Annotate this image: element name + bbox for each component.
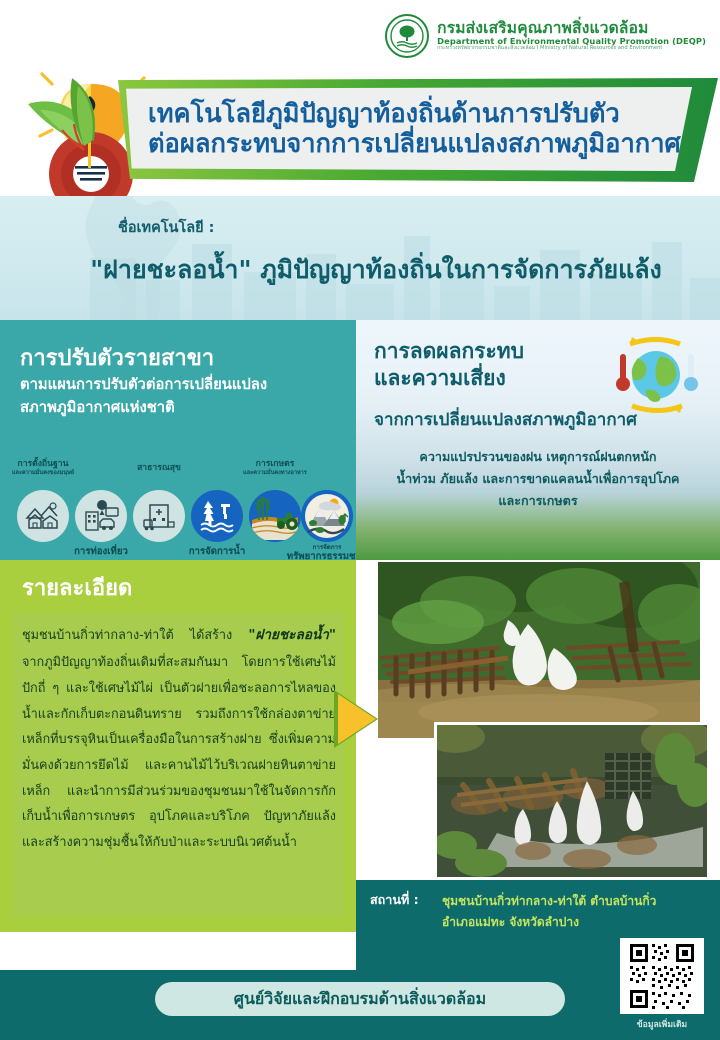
mitigation-panel: การลดผลกระทบ และความเสี่ยง จากการเปลี่ยน… <box>356 320 720 560</box>
globe-thermometer-icon <box>608 334 704 418</box>
mitigation-body-line3: และการเกษตร <box>368 490 708 512</box>
qr-code-icon <box>620 938 704 1014</box>
public-health-hospital-icon <box>133 490 185 542</box>
details-text-highlight: "ฝายชะลอน้ำ" <box>248 627 336 643</box>
technology-label: ชื่อเทคโนโลยี : <box>118 216 214 239</box>
thermometer-hot <box>616 354 630 391</box>
details-body-text: ชุมชนบ้านกิ่วท่ากลาง-ท่าใต้ ได้สร้าง "ฝา… <box>22 622 336 855</box>
adaptation-subheading-line1: ตามแผนการปรับตัวต่อการเปลี่ยนแปลง <box>20 374 340 397</box>
sector-label-public-health: สาธารณสุข <box>106 464 212 474</box>
research-center-name: ศูนย์วิจัยและฝึกอบรมด้านสิ่งแวดล้อม <box>234 987 486 1012</box>
mitigation-body: ความแปรปรวนของฝน เหตุการณ์ฝนตกหนัก น้ำท่… <box>368 446 708 512</box>
water-management-tap-icon <box>191 490 243 542</box>
sector-label-tourism: การท่องเที่ยว <box>46 546 156 558</box>
mitigation-heading-line1: การลดผลกระทบ <box>374 338 524 365</box>
technology-name-band: ชื่อเทคโนโลยี : "ฝายชะลอน้ำ" ภูมิปัญญาท้… <box>0 196 720 320</box>
mitigation-heading-line2: และความเสี่ยง <box>374 365 524 392</box>
location-line2: อำเภอแม่ทะ จังหวัดลำปาง <box>442 913 692 932</box>
poster-title-line2: ต่อผลกระทบจากการเปลี่ยนแปลงสภาพภูมิอากาศ <box>148 129 692 159</box>
adaptation-subheading-line2: สภาพภูมิอากาศแห่งชาติ <box>20 397 340 420</box>
sector-item-tourism[interactable]: การท่องเที่ยว <box>72 490 130 542</box>
tourism-city-icon <box>75 490 127 542</box>
title-ribbon: เทคโนโลยีภูมิปัญญาท้องถิ่นด้านการปรับตัว… <box>118 78 718 182</box>
qr-block[interactable]: ข้อมูลเพิ่มเติม <box>620 938 704 1034</box>
research-center-pill[interactable]: ศูนย์วิจัยและฝึกอบรมด้านสิ่งแวดล้อม <box>155 982 565 1016</box>
sector-label-agriculture: การเกษตร และความมั่นคงทางอาหาร <box>222 460 328 477</box>
location-label: สถานที่ : <box>370 890 419 910</box>
footer-band: ศูนย์วิจัยและฝึกอบรมด้านสิ่งแวดล้อม <box>0 970 720 1040</box>
sector-item-agriculture[interactable]: การเกษตร และความมั่นคงทางอาหาร <box>246 490 304 542</box>
sector-item-public-health[interactable]: สาธารณสุข <box>130 490 188 542</box>
details-text-part1: ชุมชนบ้านกิ่วท่ากลาง-ท่าใต้ ได้สร้าง <box>22 627 248 642</box>
qr-caption: ข้อมูลเพิ่มเติม <box>620 1017 704 1031</box>
sector-label-settlement: การตั้งถิ่นฐาน และความมั่นคงของมนุษย์ <box>0 460 96 477</box>
agriculture-tractor-icon <box>249 490 301 542</box>
sector-item-settlement[interactable]: การตั้งถิ่นฐาน และความมั่นคงของมนุษย์ <box>14 490 72 542</box>
ribbon-inner-panel: เทคโนโลยีภูมิปัญญาท้องถิ่นด้านการปรับตัว… <box>126 87 692 171</box>
poster-title-line1: เทคโนโลยีภูมิปัญญาท้องถิ่นด้านการปรับตัว <box>148 99 692 129</box>
org-ministry-line: กระทรวงทรัพยากรธรรมชาติและสิ่งแวดล้อม I … <box>437 46 706 52</box>
sector-item-natural-resources[interactable]: การจัดการ ทรัพยากรธรรมชาติ <box>298 490 356 542</box>
thermometer-cold <box>684 354 698 391</box>
sector-label-water-management: การจัดการน้ำ <box>162 546 272 558</box>
natural-resources-mountain-icon <box>301 490 353 542</box>
deqp-logo: กรมส่งเสริมคุณภาพสิ่งแวดล้อม Department … <box>385 14 706 58</box>
tree-in-circle-icon <box>385 14 429 58</box>
sector-item-water-management[interactable]: การจัดการน้ำ <box>188 490 246 542</box>
header-band: กรมส่งเสริมคุณภาพสิ่งแวดล้อม Department … <box>0 0 720 196</box>
adaptation-panel: การปรับตัวรายสาขา ตามแผนการปรับตัวต่อการ… <box>0 320 356 560</box>
details-text-part2: จากภูมิปัญญาท้องถิ่นเดิมที่สะสมกันมา โดย… <box>22 654 336 849</box>
check-dam-cascade-photo <box>434 722 710 880</box>
details-heading: รายละเอียด <box>22 570 132 605</box>
technology-name: "ฝายชะลอน้ำ" ภูมิปัญญาท้องถิ่นในการจัดกา… <box>76 250 676 290</box>
mitigation-body-line1: ความแปรปรวนของฝน เหตุการณ์ฝนตกหนัก <box>368 446 708 468</box>
mitigation-body-line2: น้ำท่วม ภัยแล้ง และการขาดแคลนน้ำเพื่อการ… <box>368 468 708 490</box>
settlement-houses-icon <box>17 490 69 542</box>
right-arrow-icon <box>330 686 382 752</box>
check-dam-wooden-weir-photo <box>378 562 700 738</box>
adaptation-heading: การปรับตัวรายสาขา <box>20 340 214 375</box>
org-name-thai: กรมส่งเสริมคุณภาพสิ่งแวดล้อม <box>437 20 706 37</box>
sector-icon-row: การตั้งถิ่นฐาน และความมั่นคงของมนุษย์ <box>6 460 354 556</box>
mitigation-heading: การลดผลกระทบ และความเสี่ยง <box>374 338 524 392</box>
location-line1: ชุมชนบ้านกิ่วท่ากลาง-ท่าใต้ ตำบลบ้านกิ่ว <box>442 890 692 913</box>
mitigation-subheading: จากการเปลี่ยนแปลงสภาพภูมิอากาศ <box>374 406 637 433</box>
poster-root: กรมส่งเสริมคุณภาพสิ่งแวดล้อม Department … <box>0 0 720 1040</box>
adaptation-subheading: ตามแผนการปรับตัวต่อการเปลี่ยนแปลง สภาพภู… <box>20 374 340 420</box>
